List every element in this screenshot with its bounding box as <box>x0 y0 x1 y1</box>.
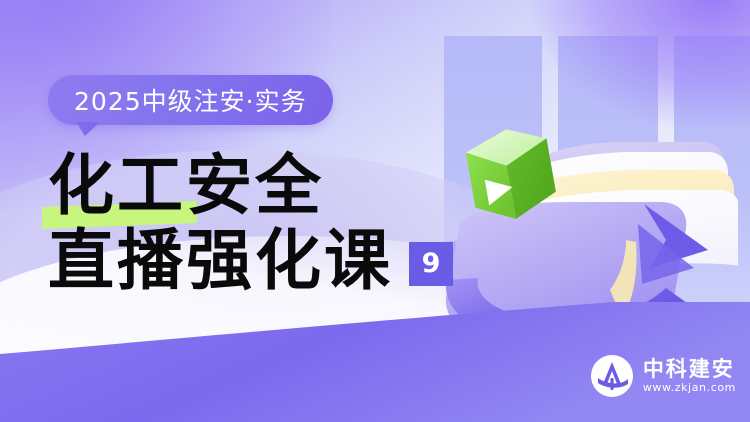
brand-logo-text: 中科建安 www.zkjan.com <box>643 359 736 393</box>
brand-url: www.zkjan.com <box>643 382 736 393</box>
brand-name: 中科建安 <box>643 359 736 380</box>
episode-number: 9 <box>422 248 441 279</box>
headline-group: 化工安全 直播强化课 9 <box>48 152 453 295</box>
headline-row-1: 化工安全 <box>48 152 453 219</box>
headline-row-2: 直播强化课 9 <box>48 227 453 294</box>
course-badge-pill: 2025中级注安·实务 <box>48 75 333 125</box>
course-promo-banner: 2025中级注安·实务 化工安全 直播强化课 9 中科建安 ww <box>0 0 750 422</box>
course-badge: 2025中级注安·实务 <box>48 75 333 125</box>
zkjan-circle-logo-icon <box>590 354 634 398</box>
headline-line-1: 化工安全 <box>48 152 324 219</box>
brand-logo: 中科建安 www.zkjan.com <box>590 354 736 398</box>
episode-number-badge: 9 <box>409 242 453 286</box>
headline-line-2: 直播强化课 <box>48 227 393 294</box>
course-badge-tail <box>76 122 100 136</box>
course-badge-label: 2025中级注安·实务 <box>74 82 307 118</box>
